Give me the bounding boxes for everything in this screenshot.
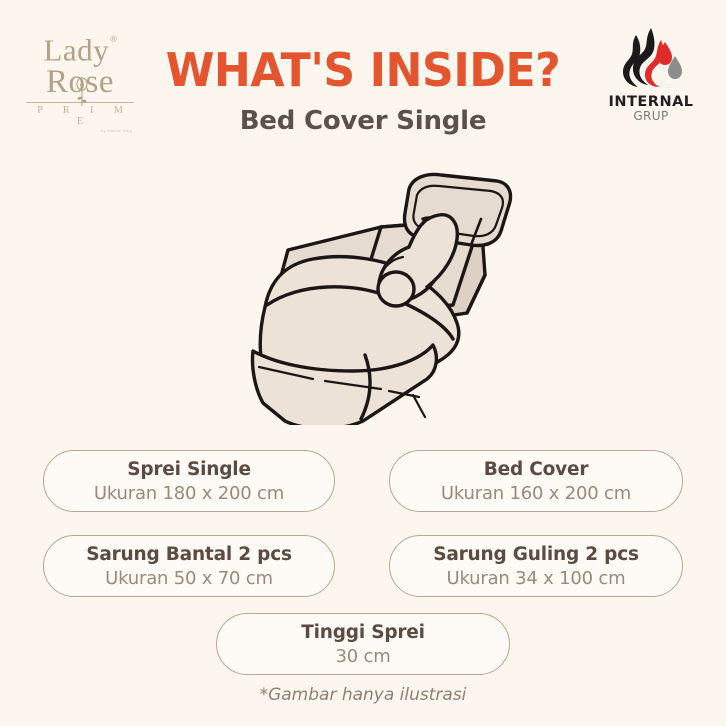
spec-title: Sarung Guling 2 pcs: [433, 543, 639, 566]
spec-size: 30 cm: [335, 645, 390, 668]
poster-canvas: Lady® Rose P R I M E by Internal Grup WH…: [0, 0, 726, 726]
internal-grup-logo: INTERNAL GRUP: [601, 26, 701, 121]
spec-size: Ukuran 34 x 100 cm: [447, 567, 626, 590]
partner-sub-name: GRUP: [601, 109, 701, 123]
spec-title: Sarung Bantal 2 pcs: [86, 543, 292, 566]
partner-name: INTERNAL: [601, 94, 701, 110]
flame-icon: [601, 26, 701, 88]
spec-size: Ukuran 160 x 200 cm: [441, 482, 631, 505]
registered-trademark-icon: ®: [110, 34, 117, 44]
spec-pill-sprei-single: Sprei Single Ukuran 180 x 200 cm: [43, 450, 335, 512]
spec-title: Tinggi Sprei: [301, 621, 425, 644]
spec-title: Sprei Single: [127, 458, 251, 481]
spec-pill-sarung-bantal: Sarung Bantal 2 pcs Ukuran 50 x 70 cm: [43, 535, 335, 597]
illustration-disclaimer: *Gambar hanya ilustrasi: [0, 685, 726, 705]
spec-pill-bed-cover: Bed Cover Ukuran 160 x 200 cm: [389, 450, 683, 512]
spec-title: Bed Cover: [484, 458, 589, 481]
spec-size: Ukuran 50 x 70 cm: [105, 567, 273, 590]
spec-size: Ukuran 180 x 200 cm: [94, 482, 284, 505]
spec-pill-sarung-guling: Sarung Guling 2 pcs Ukuran 34 x 100 cm: [389, 535, 683, 597]
spec-pill-tinggi-sprei: Tinggi Sprei 30 cm: [216, 613, 510, 675]
bed-cover-illustration: [213, 155, 523, 425]
